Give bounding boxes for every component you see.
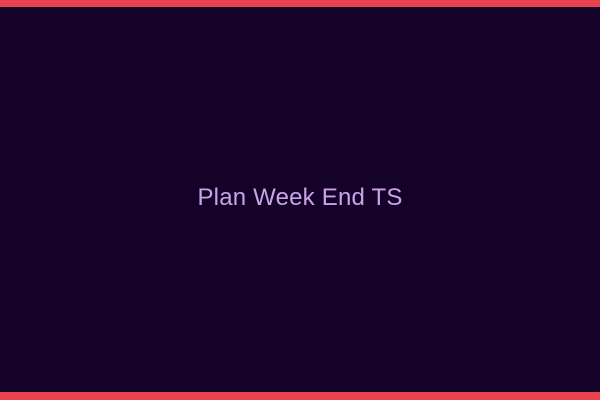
placeholder-caption: Plan Week End TS bbox=[197, 184, 402, 213]
placeholder-body: Plan Week End TS bbox=[0, 7, 600, 392]
placeholder-canvas: Plan Week End TS bbox=[0, 0, 600, 400]
top-accent-rule bbox=[0, 0, 600, 7]
bottom-accent-rule bbox=[0, 392, 600, 400]
